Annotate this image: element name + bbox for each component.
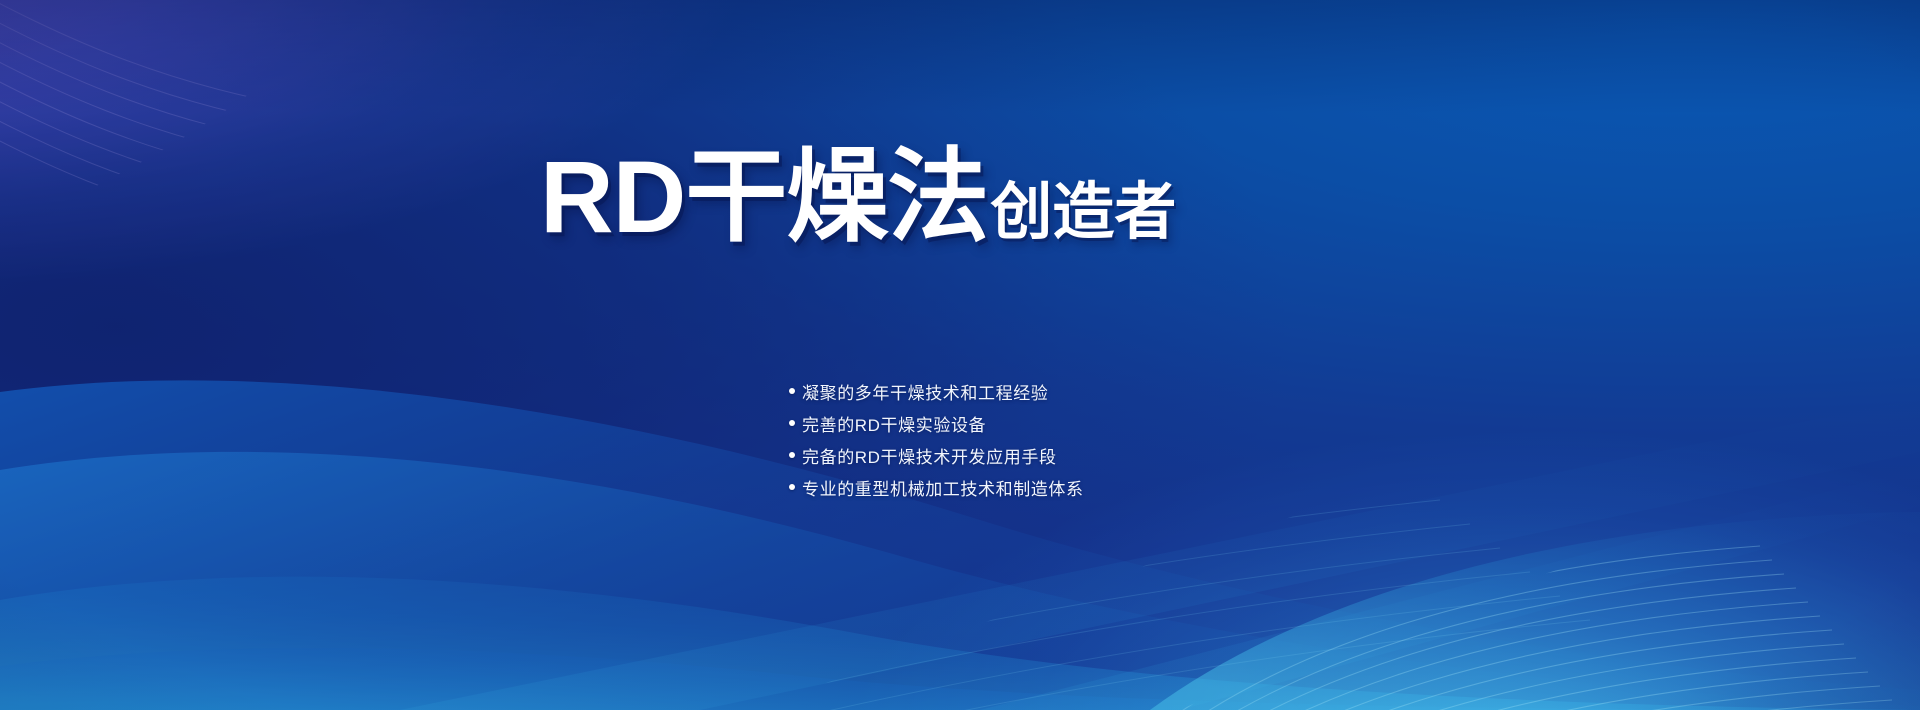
hero-banner: RD干燥法 创造者 凝聚的多年干燥技术和工程经验 完善的RD干燥实验设备 完备的… — [0, 0, 1920, 710]
headline-main-text: RD干燥法 — [540, 146, 988, 248]
banner-content: RD干燥法 创造者 凝聚的多年干燥技术和工程经验 完善的RD干燥实验设备 完备的… — [0, 0, 1920, 710]
list-item: 完善的RD干燥实验设备 — [789, 407, 1084, 439]
list-item: 专业的重型机械加工技术和制造体系 — [789, 471, 1084, 503]
bullet-label: 完善的RD干燥实验设备 — [802, 411, 986, 436]
bullet-dot-icon — [789, 388, 795, 394]
banner-headline: RD干燥法 创造者 — [540, 146, 1176, 248]
list-item: 凝聚的多年干燥技术和工程经验 — [789, 375, 1084, 407]
feature-bullet-list: 凝聚的多年干燥技术和工程经验 完善的RD干燥实验设备 完备的RD干燥技术开发应用… — [789, 375, 1084, 503]
headline-sub-text: 创造者 — [990, 182, 1176, 248]
bullet-dot-icon — [789, 420, 795, 426]
list-item: 完备的RD干燥技术开发应用手段 — [789, 439, 1084, 471]
bullet-dot-icon — [789, 452, 795, 458]
bullet-label: 凝聚的多年干燥技术和工程经验 — [802, 379, 1048, 404]
bullet-label: 专业的重型机械加工技术和制造体系 — [802, 475, 1084, 500]
bullet-dot-icon — [789, 484, 795, 490]
bullet-label: 完备的RD干燥技术开发应用手段 — [802, 443, 1057, 468]
